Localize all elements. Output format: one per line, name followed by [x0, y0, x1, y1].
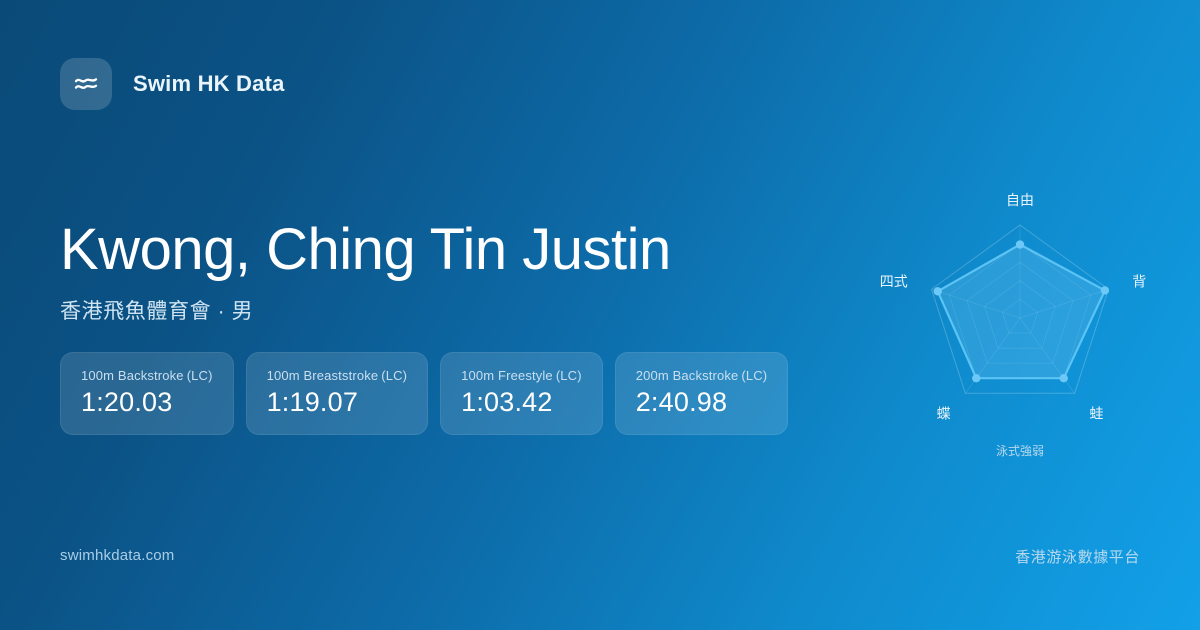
stat-event-label: 100m Freestyle(LC): [461, 368, 582, 383]
athlete-meta: 香港飛魚體育會 · 男: [60, 295, 850, 325]
stat-course-code: (LC): [187, 368, 213, 383]
radar-point: [1101, 286, 1109, 294]
stat-event-label: 100m Backstroke(LC): [81, 368, 213, 383]
stat-card[interactable]: 200m Backstroke(LC) 2:40.98: [615, 352, 789, 435]
radar-point: [972, 374, 980, 382]
stroke-strength-radar-chart: 自由背蛙蝶四式 泳式強弱: [870, 168, 1170, 478]
footer-site-url[interactable]: swimhkdata.com: [60, 547, 175, 564]
radar-axis-label: 蝶: [937, 407, 951, 423]
athlete-hero: Kwong, Ching Tin Justin 香港飛魚體育會 · 男: [60, 218, 850, 325]
footer-tagline: 香港游泳數據平台: [1015, 546, 1140, 567]
radar-svg: 自由背蛙蝶四式 泳式強弱: [870, 168, 1170, 478]
page-title: Kwong, Ching Tin Justin: [60, 218, 850, 283]
wave-icon: [71, 69, 101, 99]
stat-event-name: 200m Backstroke: [636, 368, 739, 383]
stat-card[interactable]: 100m Freestyle(LC) 1:03.42: [440, 352, 603, 435]
stat-course-code: (LC): [741, 368, 767, 383]
stat-event-label: 100m Breaststroke(LC): [267, 368, 408, 383]
brand-header[interactable]: Swim HK Data: [60, 58, 285, 110]
radar-axis-label: 背: [1132, 275, 1146, 291]
stat-event-name: 100m Backstroke: [81, 368, 184, 383]
stat-time-value: 1:03.42: [461, 388, 582, 418]
radar-axis-label: 自由: [1006, 193, 1034, 209]
personal-best-cards: 100m Backstroke(LC) 1:20.03 100m Breasts…: [60, 352, 788, 435]
stat-event-label: 200m Backstroke(LC): [636, 368, 768, 383]
app-title: Swim HK Data: [133, 71, 285, 97]
stat-course-code: (LC): [381, 368, 407, 383]
stat-event-name: 100m Freestyle: [461, 368, 553, 383]
radar-axis-label: 四式: [880, 275, 908, 291]
stat-time-value: 2:40.98: [636, 388, 768, 418]
radar-series-area: [938, 245, 1105, 379]
stat-course-code: (LC): [556, 368, 582, 383]
app-logo: [60, 58, 112, 110]
stat-card[interactable]: 100m Breaststroke(LC) 1:19.07: [246, 352, 429, 435]
radar-point: [1060, 374, 1068, 382]
radar-axis-label: 蛙: [1089, 407, 1103, 423]
radar-caption: 泳式強弱: [996, 444, 1044, 458]
stat-time-value: 1:20.03: [81, 388, 213, 418]
stat-time-value: 1:19.07: [267, 388, 408, 418]
stat-card[interactable]: 100m Backstroke(LC) 1:20.03: [60, 352, 234, 435]
radar-point: [1016, 240, 1024, 248]
stat-event-name: 100m Breaststroke: [267, 368, 379, 383]
radar-point: [934, 287, 942, 295]
